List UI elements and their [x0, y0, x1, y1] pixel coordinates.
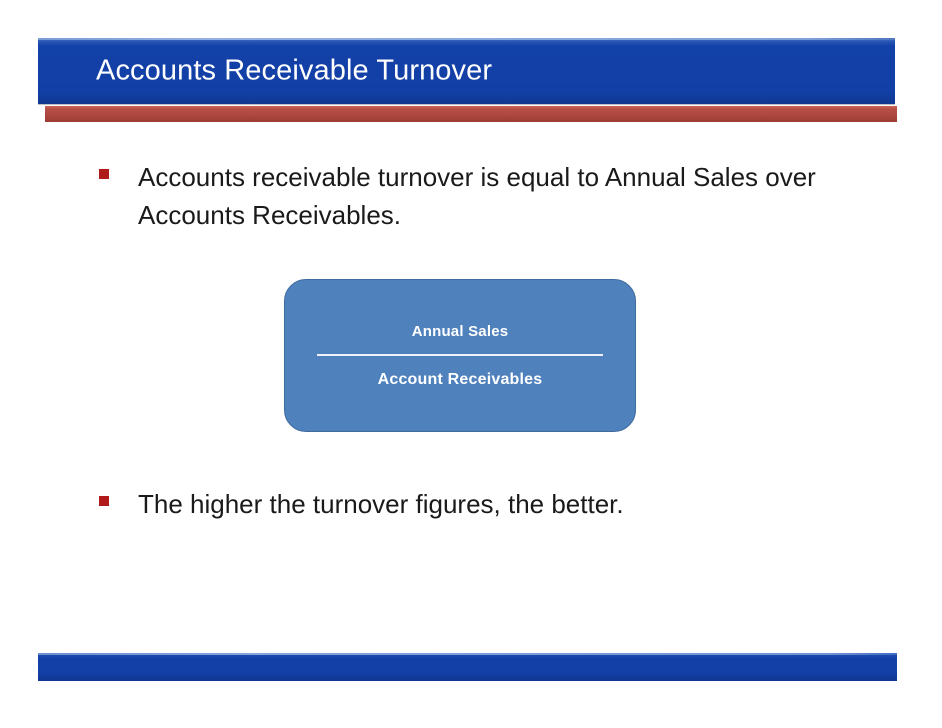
- formula-denominator-label: Account Receivables: [378, 370, 543, 389]
- bullet-item-2-label: The higher the turnover figures, the bet…: [138, 485, 624, 523]
- title-banner: Accounts Receivable Turnover: [38, 38, 895, 104]
- formula-numerator-label: Annual Sales: [412, 323, 509, 341]
- title-accent-bar: [45, 106, 897, 122]
- bullet-item-1: Accounts receivable turnover is equal to…: [99, 158, 899, 234]
- formula-box: Annual Sales Account Receivables: [284, 279, 636, 432]
- formula-fraction-line: [317, 354, 603, 356]
- title-banner-highlight: [38, 38, 895, 40]
- bullet-item-1-label: Accounts receivable turnover is equal to…: [138, 158, 878, 234]
- slide-canvas: Accounts Receivable Turnover Accounts re…: [0, 0, 942, 728]
- footer-banner-highlight: [38, 653, 897, 655]
- square-bullet-icon: [99, 169, 109, 179]
- footer-banner: [38, 653, 897, 681]
- square-bullet-icon: [99, 496, 109, 506]
- page-title: Accounts Receivable Turnover: [96, 57, 492, 86]
- bullet-item-2: The higher the turnover figures, the bet…: [99, 485, 879, 523]
